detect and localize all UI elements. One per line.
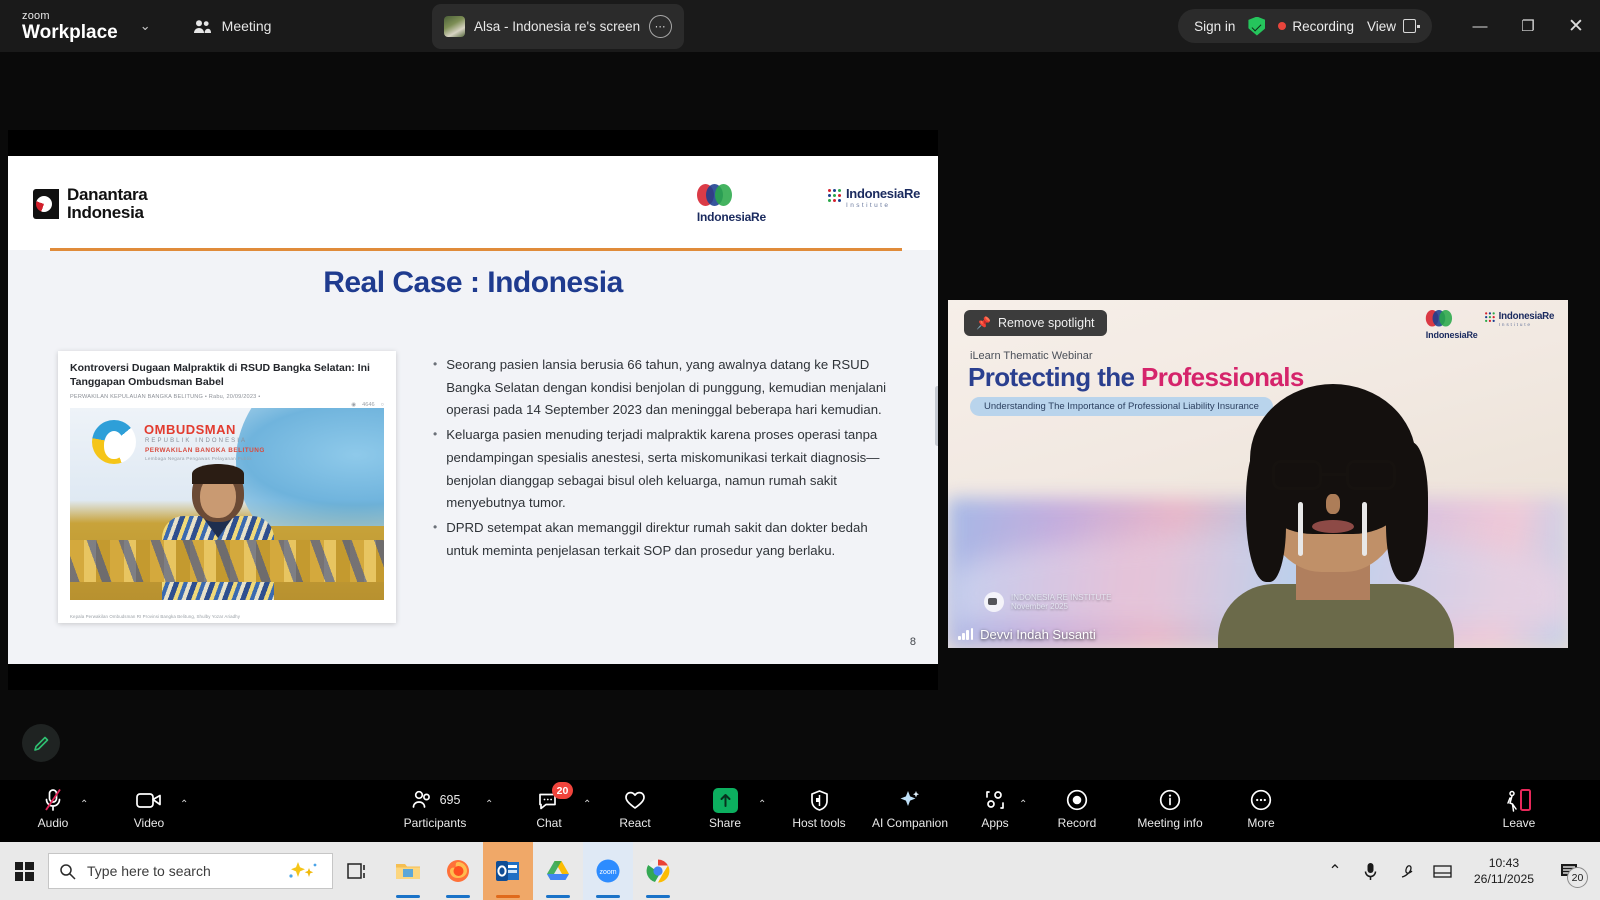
- news-photo: OMBUDSMAN REPUBLIK INDONESIA PERWAKILAN …: [70, 408, 384, 600]
- layout-icon: [1403, 19, 1416, 33]
- bullet-text: DPRD setempat akan memanggil direktur ru…: [446, 517, 893, 562]
- audio-options-caret[interactable]: ⌃: [80, 799, 88, 810]
- chat-icon: 20: [537, 787, 561, 813]
- news-headline: Kontroversi Dugaan Malpraktik di RSUD Ba…: [58, 351, 396, 389]
- shield-icon: [809, 787, 830, 813]
- meeting-nav-label: Meeting: [222, 18, 272, 34]
- clock-date: 26/11/2025: [1474, 872, 1534, 886]
- poster-line2: REPUBLIK INDONESIA: [145, 438, 247, 444]
- zoom-icon: zoom: [594, 858, 622, 884]
- titlebar-status-group: Sign in Recording View: [1178, 9, 1432, 43]
- sparkle-icon: [898, 787, 922, 813]
- search-placeholder: Type here to search: [87, 863, 273, 879]
- info-icon: [1158, 787, 1182, 813]
- list-item: • Keluarga pasien menuding terjadi malpr…: [433, 424, 893, 515]
- list-item: • Seorang pasien lansia berusia 66 tahun…: [433, 354, 893, 422]
- touch-keyboard-icon[interactable]: [1426, 842, 1460, 900]
- taskbar-firefox[interactable]: [433, 842, 483, 900]
- slide-title: Real Case : Indonesia: [8, 266, 938, 300]
- indonesiare-label: IndonesiaRe: [1426, 330, 1478, 341]
- toolbar-record-button[interactable]: Record: [1040, 787, 1114, 830]
- toolbar-audio-button[interactable]: Audio: [16, 787, 90, 830]
- taskbar-zoom[interactable]: zoom: [583, 842, 633, 900]
- bullet-icon: •: [433, 354, 437, 422]
- search-icon: [59, 863, 76, 880]
- decorative-banner: [70, 540, 384, 582]
- institute-logo: IndonesiaReInstitute: [1485, 310, 1554, 328]
- slide-page-number: 8: [910, 636, 916, 648]
- firefox-icon: [445, 858, 471, 884]
- tab-thumbnail: [444, 16, 465, 37]
- indonesiare-institute-logo: IndonesiaRe Institute: [828, 186, 920, 210]
- taskbar-file-explorer[interactable]: [383, 842, 433, 900]
- microphone-muted-icon: [42, 787, 64, 813]
- meeting-stage: Danantara Indonesia IndonesiaRe Indonesi…: [0, 52, 1600, 780]
- participant-name-bar: Devvi Indah Susanti: [948, 620, 1568, 648]
- meeting-toolbar: Audio ⌃ Video ⌃ 695 Participants ⌃: [0, 780, 1600, 842]
- indonesiare-label: IndonesiaRe: [697, 210, 766, 224]
- watermark-line1: INDONESIA RE INSTITUTE: [1011, 593, 1111, 602]
- clock[interactable]: 10:43 26/11/2025: [1462, 855, 1546, 888]
- notification-count-badge: 20: [1567, 867, 1588, 888]
- toolbar-label: React: [619, 816, 650, 830]
- poster-title: OMBUDSMAN: [144, 422, 236, 437]
- clock-time: 10:43: [1489, 856, 1520, 870]
- leave-icon: [1506, 787, 1532, 813]
- toolbar-more-button[interactable]: More: [1224, 787, 1298, 830]
- share-caret[interactable]: ⌃: [758, 799, 766, 810]
- tab-more-icon[interactable]: ⋯: [649, 15, 672, 38]
- institute-sub: Institute: [846, 203, 920, 210]
- danantara-line1: Danantara: [67, 185, 147, 204]
- microphone-tray-icon[interactable]: [1354, 842, 1388, 900]
- windows-logo-icon: [15, 862, 34, 881]
- notification-center-button[interactable]: 20: [1548, 842, 1592, 900]
- slide-bullet-list: • Seorang pasien lansia berusia 66 tahun…: [433, 354, 893, 564]
- participants-caret[interactable]: ⌃: [485, 799, 493, 810]
- share-screen-icon: [713, 787, 738, 813]
- recording-indicator[interactable]: Recording: [1278, 19, 1354, 34]
- annotate-button[interactable]: [22, 724, 60, 762]
- pencil-icon: [32, 734, 51, 753]
- ombudsman-logo-icon: [92, 420, 136, 464]
- apps-icon: [983, 787, 1007, 813]
- outlook-icon: [495, 859, 521, 883]
- participants-icon: [193, 19, 212, 34]
- news-meta: PERWAKILAN KEPULAUAN BANGKA BELITUNG • R…: [58, 389, 396, 400]
- toolbar-label: AI Companion: [872, 816, 948, 830]
- recording-label: Recording: [1292, 19, 1354, 34]
- video-title-part1: Protecting the: [968, 362, 1141, 392]
- toolbar-label: Record: [1058, 816, 1097, 830]
- taskbar-outlook[interactable]: [483, 842, 533, 900]
- bullet-text: Seorang pasien lansia berusia 66 tahun, …: [446, 354, 893, 422]
- pin-icon: 📌: [976, 316, 991, 330]
- heart-icon: [623, 787, 647, 813]
- system-tray: ⌃ 10:43 26/11/2025: [1318, 842, 1600, 900]
- encryption-shield-icon[interactable]: [1248, 17, 1265, 36]
- poster-line3: PERWAKILAN BANGKA BELITUNG: [145, 447, 265, 454]
- task-view-button[interactable]: [333, 842, 383, 900]
- windows-taskbar: Type here to search: [0, 842, 1600, 900]
- chat-unread-badge: 20: [552, 782, 573, 799]
- google-drive-icon: [545, 859, 571, 883]
- toolbar-label: Chat: [536, 816, 561, 830]
- list-item: • DPRD setempat akan memanggil direktur …: [433, 517, 893, 562]
- poster-line4: Lembaga Negara Pengawas Pelayanan Publik: [145, 456, 252, 461]
- toolbar-video-button[interactable]: Video: [112, 787, 186, 830]
- danantara-logo: Danantara Indonesia: [33, 186, 147, 222]
- bullet-icon: •: [433, 517, 437, 562]
- tab-label: Alsa - Indonesia re's screen: [474, 19, 640, 34]
- tab-shared-screen[interactable]: Alsa - Indonesia re's screen ⋯: [432, 4, 684, 49]
- indonesiare-rings-icon: [697, 184, 766, 208]
- video-options-caret[interactable]: ⌃: [180, 799, 188, 810]
- presentation-slide: Danantara Indonesia IndonesiaRe Indonesi…: [8, 156, 938, 664]
- participant-name: Devvi Indah Susanti: [980, 627, 1096, 642]
- slide-header-band: [8, 156, 938, 250]
- view-label: View: [1367, 19, 1396, 34]
- show-hidden-icons-button[interactable]: ⌃: [1318, 842, 1352, 900]
- shared-screen-area[interactable]: Danantara Indonesia IndonesiaRe Indonesi…: [8, 130, 938, 690]
- danantara-line2: Indonesia: [67, 203, 144, 222]
- search-input[interactable]: Type here to search: [48, 853, 333, 889]
- remove-spotlight-button[interactable]: 📌 Remove spotlight: [964, 310, 1107, 336]
- participant-video-tile[interactable]: IndonesiaRe IndonesiaReInstitute iLearn …: [948, 300, 1568, 648]
- toolbar-label: More: [1247, 816, 1274, 830]
- news-article-card: Kontroversi Dugaan Malpraktik di RSUD Ba…: [58, 351, 396, 623]
- zoom-wordmark: zoom: [22, 11, 118, 22]
- close-button[interactable]: ✕: [1552, 0, 1600, 52]
- bullet-text: Keluarga pasien menuding terjadi malprak…: [446, 424, 893, 515]
- video-watermark: INDONESIA RE INSTITUTE November 2025: [984, 592, 1111, 612]
- meeting-nav-item[interactable]: Meeting: [193, 18, 272, 34]
- dot-grid-icon: [1485, 312, 1495, 322]
- taskbar-google-drive[interactable]: [533, 842, 583, 900]
- toolbar-label: Participants: [404, 816, 467, 830]
- more-dots-icon: [1249, 787, 1273, 813]
- toolbar-meeting-info-button[interactable]: Meeting info: [1120, 787, 1220, 830]
- pen-tray-icon[interactable]: [1390, 842, 1424, 900]
- minimize-button[interactable]: —: [1456, 0, 1504, 52]
- bullet-icon: •: [433, 424, 437, 515]
- svg-text:zoom: zoom: [599, 869, 616, 876]
- indonesiare-logo: IndonesiaRe: [697, 184, 766, 226]
- divider: [50, 248, 902, 251]
- chevron-down-icon[interactable]: ⌄: [140, 18, 151, 34]
- speaker-silhouette: [1200, 384, 1468, 648]
- toolbar-share-button[interactable]: Share: [688, 787, 762, 830]
- toolbar-label: Host tools: [792, 816, 845, 830]
- participant-count: 695: [440, 793, 461, 807]
- maximize-button[interactable]: ❐: [1504, 0, 1552, 52]
- camera-icon: [135, 787, 163, 813]
- leave-meeting-button[interactable]: Leave: [1482, 787, 1556, 830]
- danantara-mark-icon: [33, 189, 59, 219]
- toolbar-label: Apps: [981, 816, 1008, 830]
- glasses-icon: [1272, 460, 1396, 490]
- toolbar-participants-button[interactable]: 695 Participants: [398, 787, 472, 830]
- workplace-wordmark: Workplace: [22, 23, 118, 42]
- file-explorer-icon: [394, 859, 422, 883]
- video-slide-eyebrow: iLearn Thematic Webinar: [970, 350, 1093, 362]
- toolbar-label: Audio: [38, 816, 69, 830]
- record-dot-icon: [1278, 22, 1286, 30]
- participants-icon: 695: [410, 787, 461, 813]
- view-button[interactable]: View: [1367, 19, 1416, 34]
- leave-label: Leave: [1503, 816, 1536, 830]
- record-icon: [1065, 787, 1089, 813]
- task-view-icon: [347, 862, 369, 880]
- toolbar-label: Share: [709, 816, 741, 830]
- sign-in-button[interactable]: Sign in: [1194, 19, 1235, 34]
- zoom-workplace-logo: zoom Workplace: [22, 11, 118, 42]
- toolbar-label: Meeting info: [1137, 816, 1202, 830]
- window-controls: — ❐ ✕: [1456, 0, 1600, 52]
- news-photo-caption: Kepala Perwakilan Ombudsman RI Provinsi …: [70, 614, 240, 619]
- toolbar-chat-button[interactable]: 20 Chat: [512, 787, 586, 830]
- video-slide-logos: IndonesiaRe IndonesiaReInstitute: [1426, 310, 1554, 342]
- toolbar-host-tools-button[interactable]: Host tools: [782, 787, 856, 830]
- toolbar-ai-companion-button[interactable]: AI Companion: [862, 787, 958, 830]
- watermark-line2: November 2025: [1011, 602, 1068, 611]
- start-button[interactable]: [0, 842, 48, 900]
- taskbar-chrome[interactable]: [633, 842, 683, 900]
- institute-name: IndonesiaRe: [846, 186, 920, 201]
- remove-spotlight-label: Remove spotlight: [998, 316, 1095, 330]
- toolbar-react-button[interactable]: React: [598, 787, 672, 830]
- camera-icon: [984, 592, 1004, 612]
- zoom-title-bar: zoom Workplace ⌄ Meeting Alsa - Indonesi…: [0, 0, 1600, 52]
- signal-bars-icon: [958, 628, 973, 640]
- toolbar-label: Video: [134, 816, 164, 830]
- chat-caret[interactable]: ⌃: [583, 799, 591, 810]
- chrome-icon: [645, 858, 671, 884]
- indonesiare-rings-icon: [1426, 310, 1478, 328]
- scrollbar[interactable]: [935, 386, 938, 446]
- apps-caret[interactable]: ⌃: [1019, 799, 1027, 810]
- dot-grid-icon: [828, 189, 841, 202]
- copilot-sparkle-icon[interactable]: [284, 860, 322, 882]
